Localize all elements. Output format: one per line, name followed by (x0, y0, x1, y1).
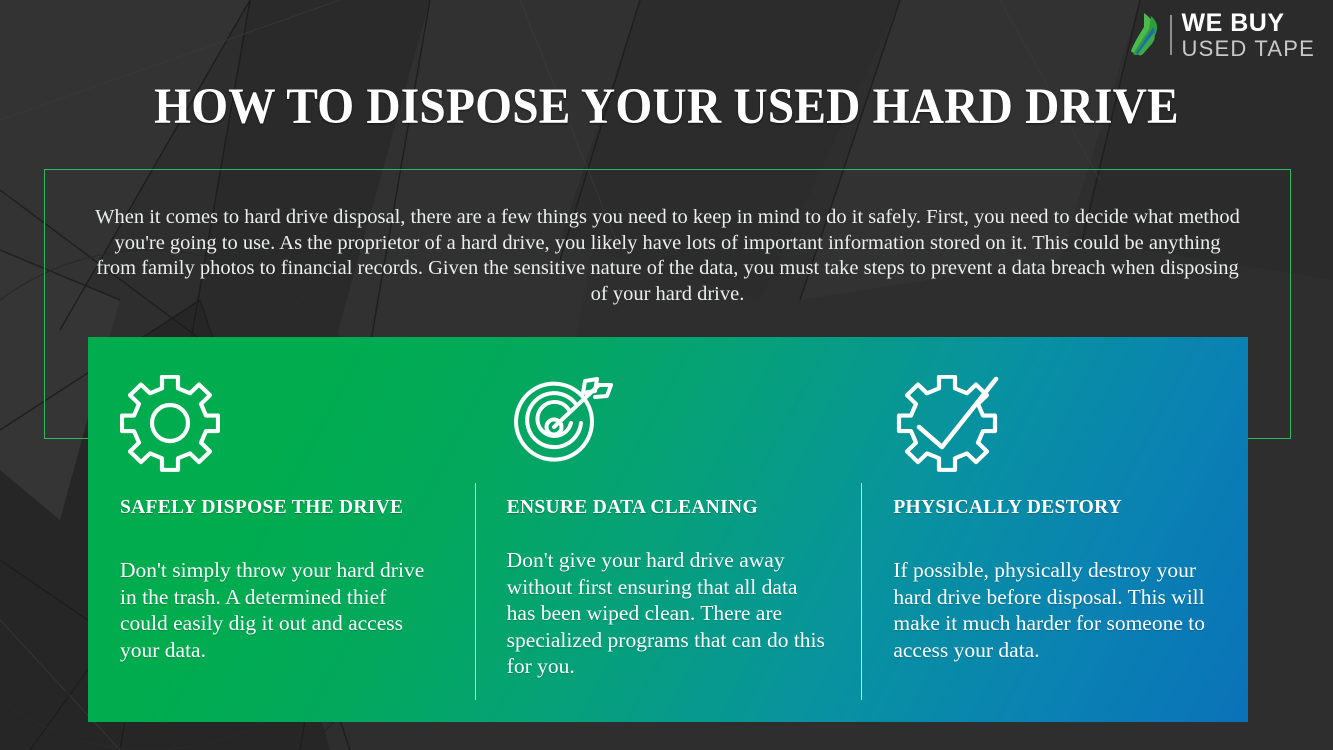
step-title: PHYSICALLY DESTORY (893, 497, 1218, 519)
step-title: SAFELY DISPOSE THE DRIVE (120, 497, 445, 519)
step-body: If possible, physically destroy your har… (893, 557, 1218, 663)
logo-wordmark: WE BUY USED TAPE (1182, 11, 1315, 60)
brand-logo[interactable]: WE BUY USED TAPE (1130, 11, 1315, 59)
intro-paragraph: When it comes to hard drive disposal, th… (44, 205, 1291, 307)
infographic-canvas: WE BUY USED TAPE HOW TO DISPOSE YOUR USE… (0, 0, 1333, 750)
step-card-data-cleaning: ENSURE DATA CLEANING Don't give your har… (475, 337, 862, 722)
steps-panel: SAFELY DISPOSE THE DRIVE Don't simply th… (88, 337, 1248, 722)
logo-line-used-tape: USED TAPE (1182, 38, 1315, 60)
step-title: ENSURE DATA CLEANING (507, 497, 832, 519)
target-arrow-icon (507, 375, 832, 475)
step-body: Don't give your hard drive away without … (507, 547, 832, 680)
leaf-tape-logo-icon (1130, 13, 1160, 57)
step-card-physically-destroy: PHYSICALLY DESTORY If possible, physical… (861, 337, 1248, 722)
logo-divider (1170, 15, 1172, 55)
logo-line-we-buy: WE BUY (1182, 11, 1315, 36)
step-card-safely-dispose: SAFELY DISPOSE THE DRIVE Don't simply th… (88, 337, 475, 722)
page-title: HOW TO DISPOSE YOUR USED HARD DRIVE (47, 78, 1287, 136)
gear-icon (120, 375, 445, 475)
step-body: Don't simply throw your hard drive in th… (120, 557, 435, 663)
gear-check-icon (893, 375, 1218, 475)
